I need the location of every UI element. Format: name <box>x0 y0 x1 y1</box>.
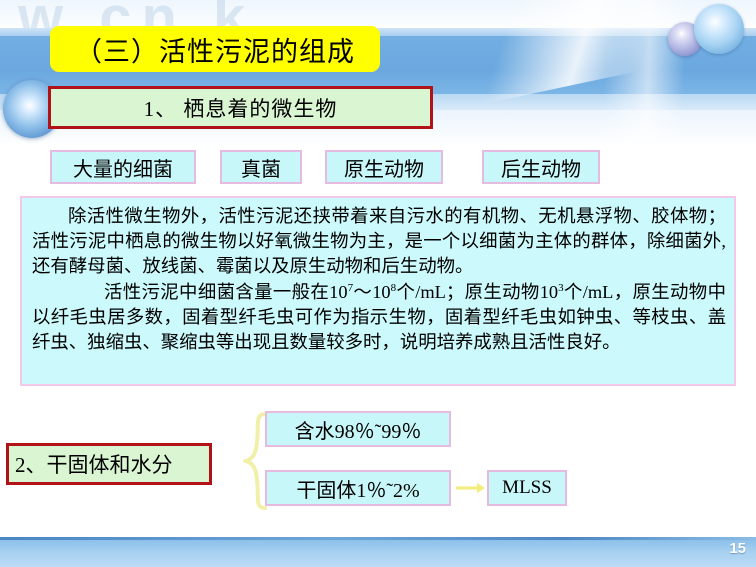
footer-band <box>0 540 756 567</box>
dry-solids-box: 干固体1％˜2% <box>265 470 451 506</box>
term-box: 大量的细菌 <box>50 150 196 184</box>
slide-title-text: （三）活性污泥的组成 <box>75 30 355 69</box>
page-number: 15 <box>729 540 746 557</box>
paragraph-two: 活性污泥中细菌含量一般在107～108个/mL；原生动物103个/mL，原生动物… <box>32 280 726 355</box>
dry-solids-label: 干固体1％˜2% <box>296 474 419 503</box>
paragraph-two-lead: 活性污泥中细菌含量一般在10 <box>104 282 348 302</box>
term-box: 后生动物 <box>482 150 600 184</box>
mlss-label: MLSS <box>502 477 552 499</box>
mlss-box: MLSS <box>487 470 567 506</box>
water-content-box: 含水98％˜99％ <box>265 411 451 447</box>
paragraph-two-mid2: 个/mL；原生动物10 <box>396 282 558 302</box>
slide-title: （三）活性污泥的组成 <box>50 26 380 72</box>
water-content-label: 含水98％˜99％ <box>295 415 422 444</box>
paragraph-two-mid1: ～10 <box>353 282 391 302</box>
term-box-label: 真菌 <box>241 153 281 182</box>
section-heading-2-text: 2、干固体和水分 <box>15 449 173 479</box>
term-box: 真菌 <box>220 150 302 184</box>
term-box-label: 大量的细菌 <box>73 153 173 182</box>
section-heading-1: 1、 栖息着的微生物 <box>48 86 433 129</box>
term-box-label: 原生动物 <box>344 153 424 182</box>
term-box-row: 大量的细菌 真菌 原生动物 后生动物 <box>0 146 756 190</box>
term-box-label: 后生动物 <box>501 153 581 182</box>
term-box: 原生动物 <box>325 150 443 184</box>
slide-canvas: w cn k （三）活性污泥的组成 1、 栖息着的微生物 大量的细菌 真菌 原生… <box>0 0 756 567</box>
section-heading-2: 2、干固体和水分 <box>6 443 212 485</box>
sphere-blue-large-icon <box>694 4 744 54</box>
paragraph-one: 除活性微生物外，活性污泥还挟带着来自污水的有机物、无机悬浮物、胶体物；活性污泥中… <box>32 204 726 279</box>
arrow-right-icon <box>455 481 485 495</box>
body-text-panel: 除活性微生物外，活性污泥还挟带着来自污水的有机物、无机悬浮物、胶体物；活性污泥中… <box>20 196 736 386</box>
section-heading-1-text: 1、 栖息着的微生物 <box>144 93 338 123</box>
